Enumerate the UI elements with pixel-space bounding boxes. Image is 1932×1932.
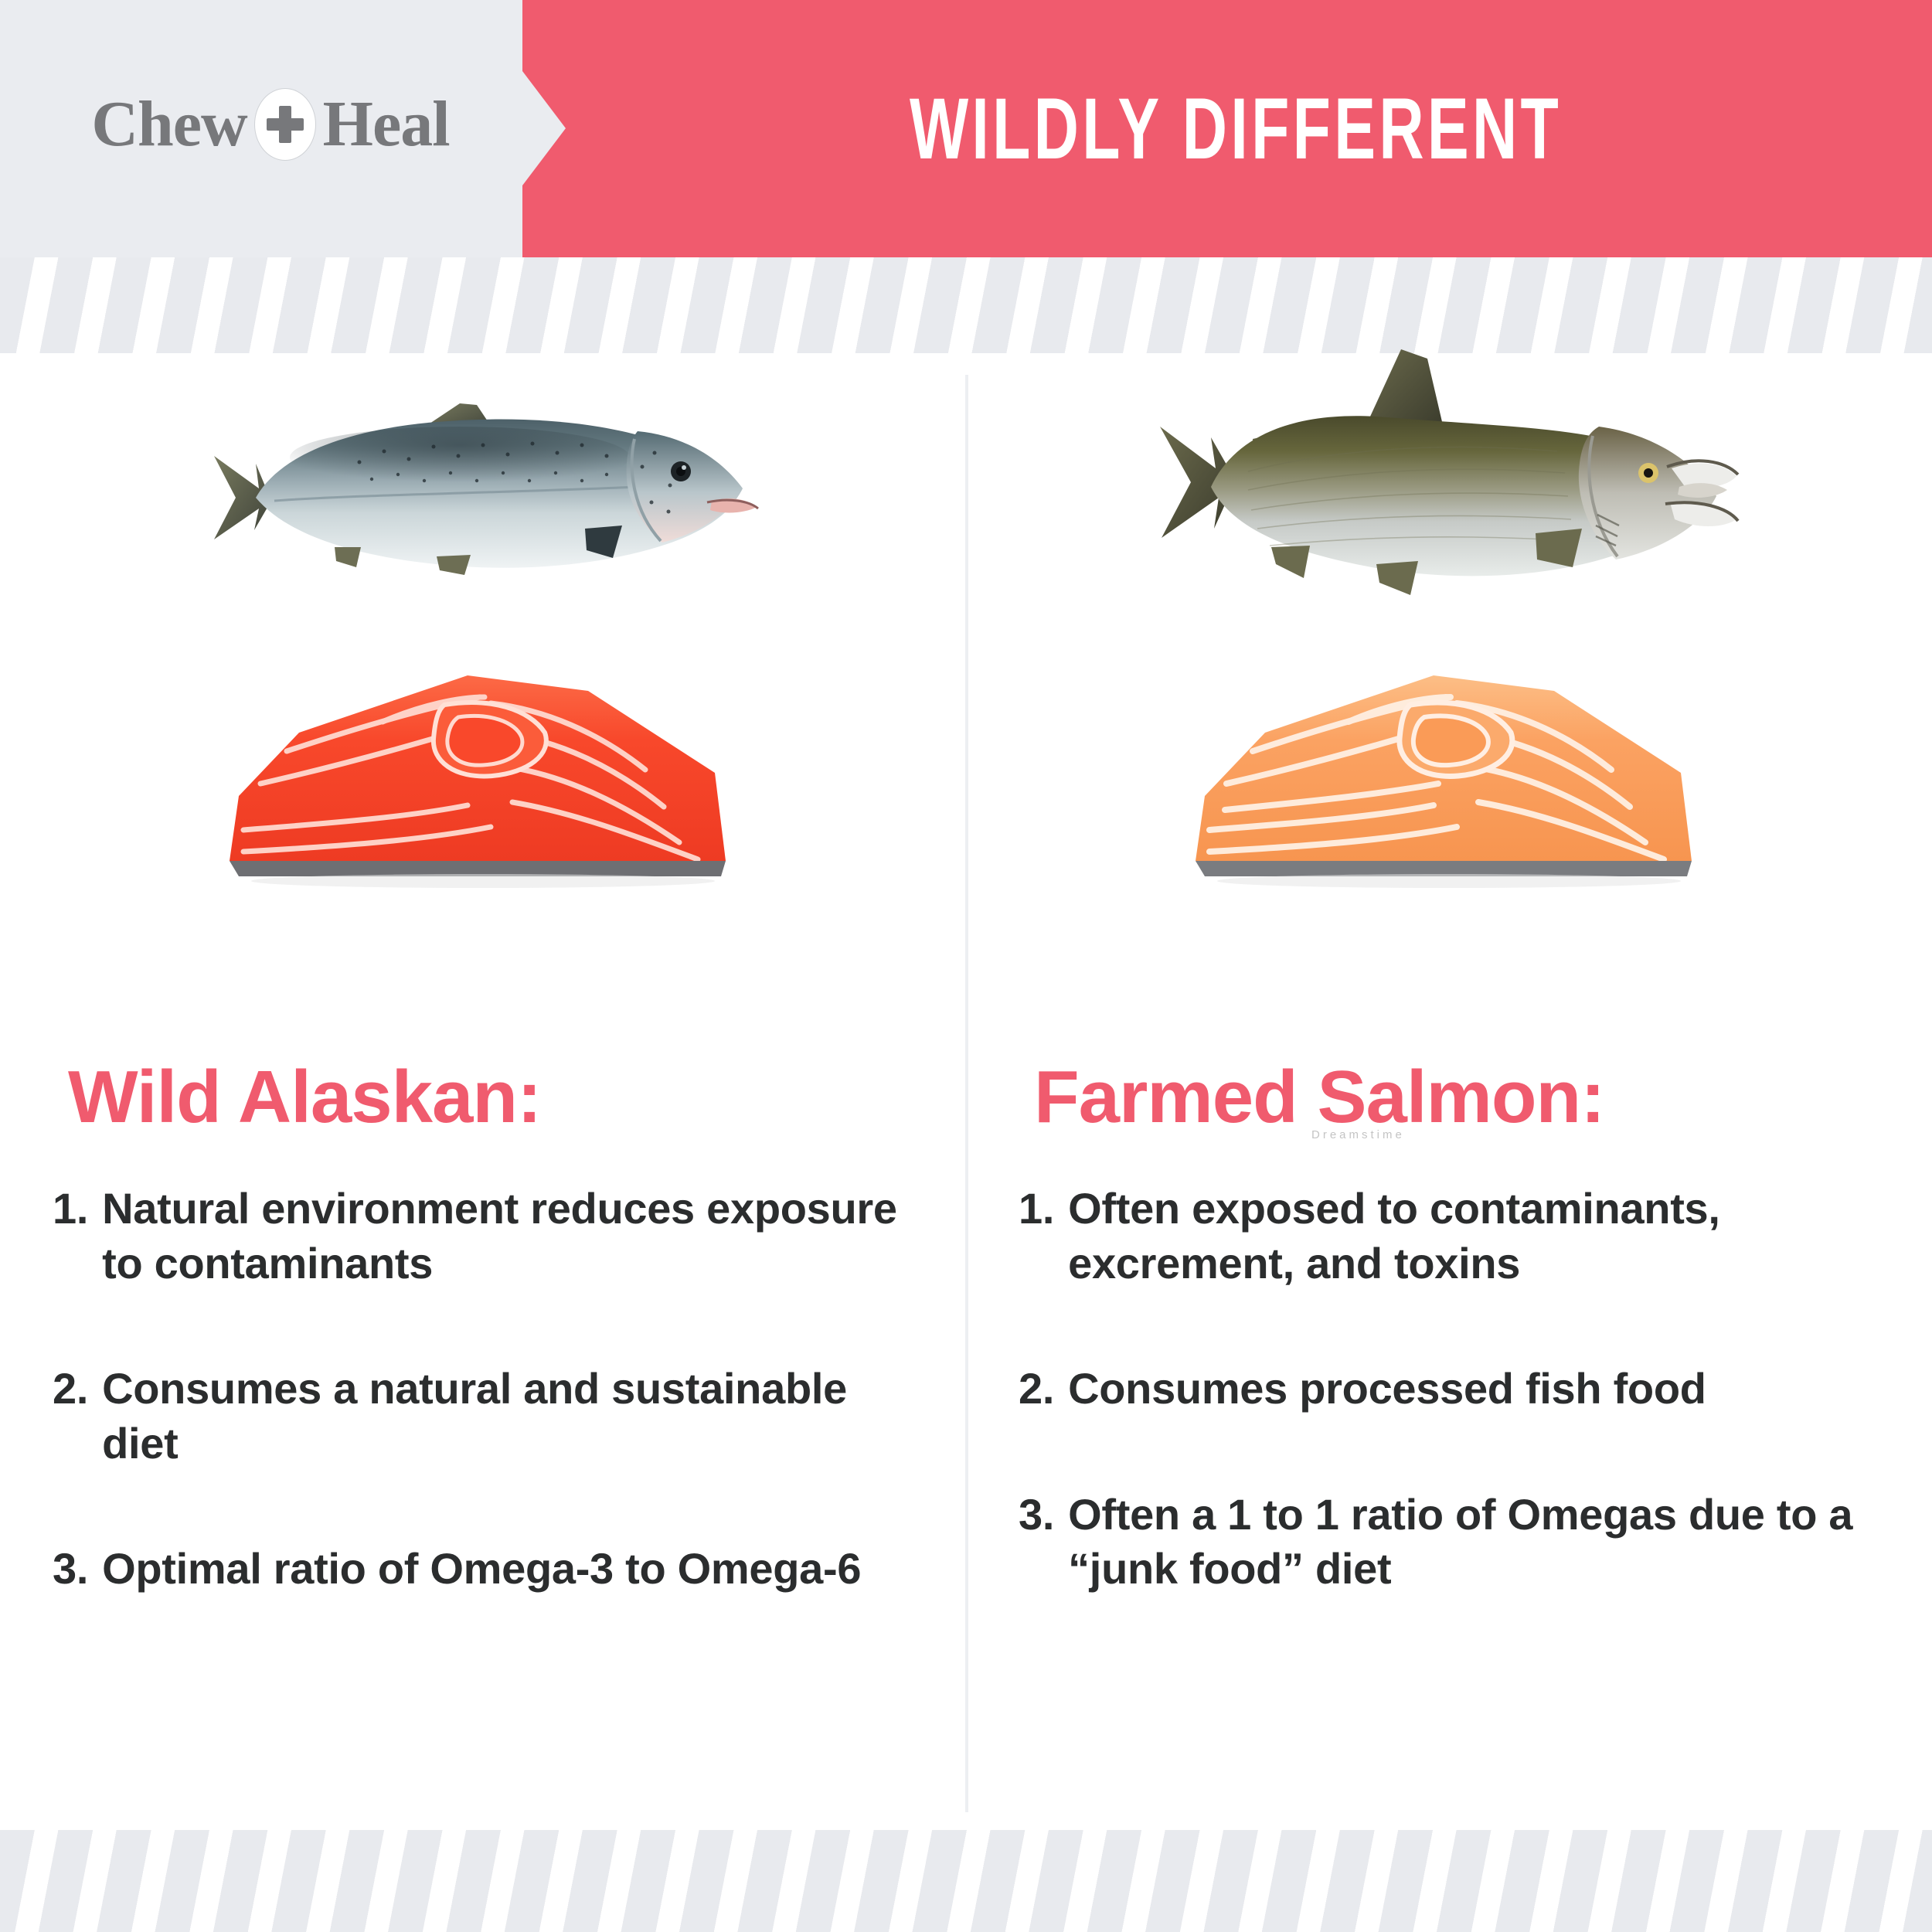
list-item: 3. Optimal ratio of Omega-3 to Omega-6 xyxy=(53,1542,918,1597)
list-item-number: 2. xyxy=(1019,1362,1068,1417)
list-item-number: 2. xyxy=(53,1362,102,1471)
column-heading-wild: Wild Alaskan: xyxy=(68,1060,541,1134)
comparison-section: Wild Alaskan: 1. Natural environment red… xyxy=(0,353,1932,1830)
column-farmed-salmon: Farmed Salmon: Dreamstime 1. Often expos… xyxy=(966,353,1932,1830)
wild-alaskan-salmon-fillet-photo xyxy=(0,658,966,898)
wild-alaskan-salmon-fish-photo xyxy=(0,365,966,658)
wild-alaskan-benefits-list: 1. Natural environment reduces exposure … xyxy=(53,1182,918,1668)
farmed-salmon-fish-photo xyxy=(966,365,1932,658)
wild-salmon-illustration xyxy=(205,365,761,620)
logo-word-chew: Chew xyxy=(91,92,247,157)
list-item-number: 3. xyxy=(1019,1488,1068,1597)
list-item: 2. Consumes a natural and sustainable di… xyxy=(53,1362,918,1471)
list-item-text: Optimal ratio of Omega-3 to Omega-6 xyxy=(102,1542,918,1597)
farmed-salmon-fillet-photo xyxy=(966,658,1932,898)
header-banner: WILDLY DIFFERENT xyxy=(522,0,1932,257)
page-header: Chew Heal WILDLY DIFFERENT xyxy=(0,0,1932,257)
plus-icon xyxy=(255,89,315,160)
page-title: WILDLY DIFFERENT xyxy=(893,86,1562,172)
brand-logo[interactable]: Chew Heal xyxy=(91,89,449,160)
farmed-salmon-illustration xyxy=(1155,335,1743,621)
wild-fillet-illustration xyxy=(213,658,753,890)
list-item: 1. Often exposed to contaminants, excrem… xyxy=(1019,1182,1884,1291)
list-item-text: Often a 1 to 1 ratio of Omegas due to a … xyxy=(1068,1488,1884,1597)
logo-panel: Chew Heal xyxy=(0,0,541,257)
farmed-salmon-drawbacks-list: 1. Often exposed to contaminants, excrem… xyxy=(1019,1182,1884,1668)
column-wild-alaskan: Wild Alaskan: 1. Natural environment red… xyxy=(0,353,966,1830)
list-item-text: Natural environment reduces exposure to … xyxy=(102,1182,918,1291)
list-item-text: Often exposed to contaminants, excrement… xyxy=(1068,1182,1884,1291)
list-item-number: 3. xyxy=(53,1542,102,1597)
list-item-number: 1. xyxy=(1019,1182,1068,1291)
list-item-text: Consumes processed fish food xyxy=(1068,1362,1884,1417)
column-heading-farmed: Farmed Salmon: xyxy=(1034,1060,1604,1134)
farmed-fillet-illustration xyxy=(1179,658,1719,890)
list-item: 3. Often a 1 to 1 ratio of Omegas due to… xyxy=(1019,1488,1884,1597)
logo-word-heal: Heal xyxy=(323,92,450,157)
list-item-text: Consumes a natural and sustainable diet xyxy=(102,1362,918,1471)
list-item: 1. Natural environment reduces exposure … xyxy=(53,1182,918,1291)
list-item-number: 1. xyxy=(53,1182,102,1291)
decorative-stripes-bottom xyxy=(0,1830,1932,1932)
list-item: 2. Consumes processed fish food xyxy=(1019,1362,1884,1417)
